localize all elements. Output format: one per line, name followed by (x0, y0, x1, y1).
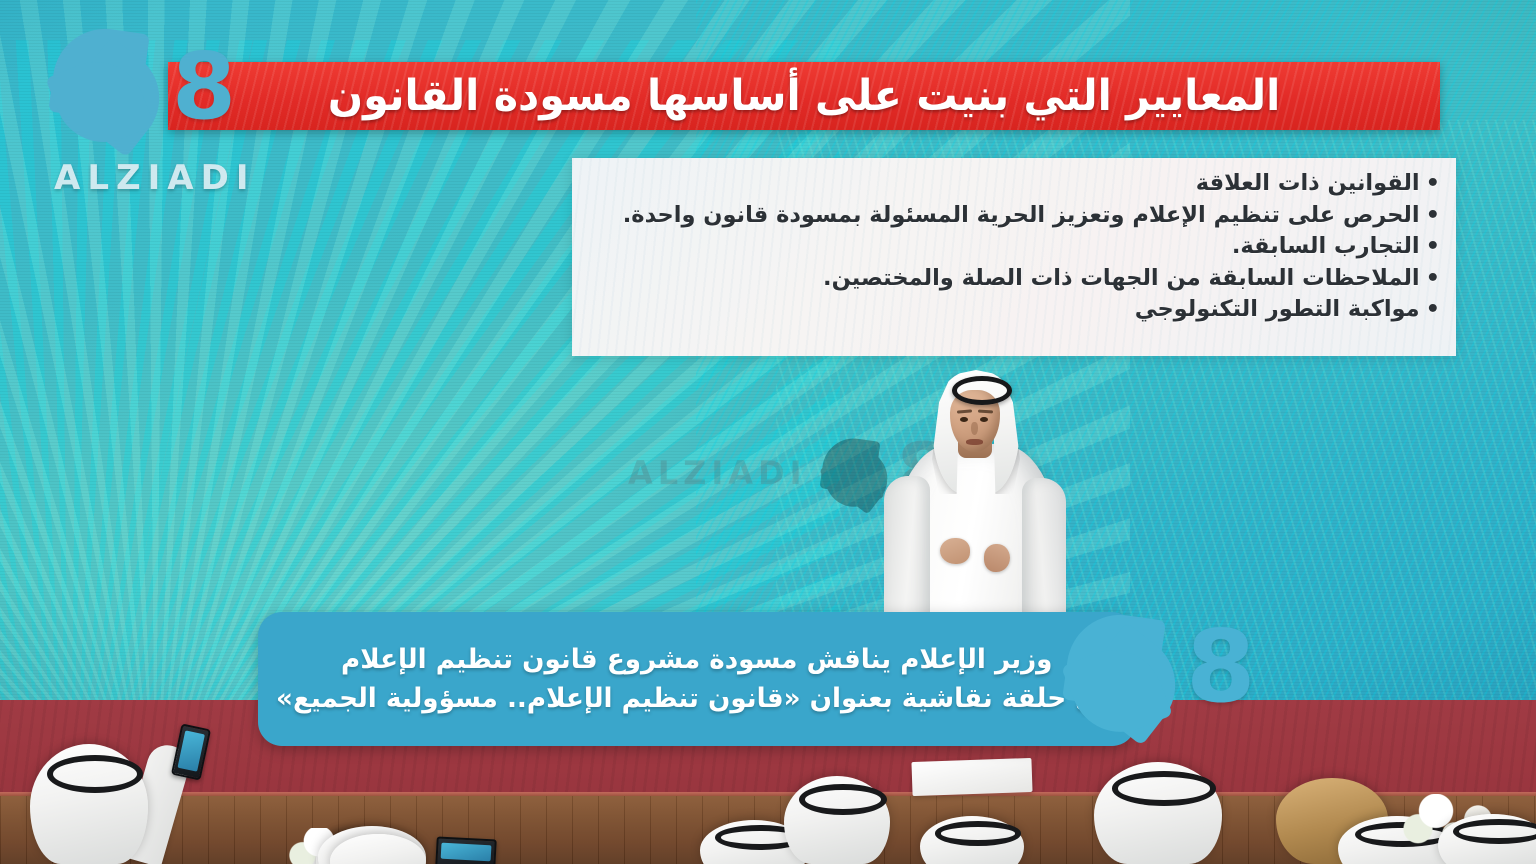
audience-agal (1453, 819, 1536, 844)
speaker-left-sleeve (884, 476, 930, 626)
audience-head (30, 744, 148, 864)
audience-agal (799, 784, 887, 815)
audience-head (1438, 814, 1536, 864)
audience-head (1094, 762, 1222, 864)
audience-agal (47, 755, 144, 793)
logo-eight: 8 (172, 48, 236, 126)
slide-bullet-list: •القوانين ذات العلاقة •الحرص على تنظيم ا… (586, 168, 1440, 326)
presentation-slide: •القوانين ذات العلاقة •الحرص على تنظيم ا… (572, 158, 1456, 356)
slide-bullet-text: التجارب السابقة. (1232, 233, 1420, 259)
audience-head (784, 776, 890, 864)
audience-head (330, 834, 426, 864)
list-item: •القوانين ذات العلاقة (586, 168, 1440, 200)
headline-text: المعايير التي بنيت على أساسها مسودة القا… (328, 71, 1280, 121)
headline-banner: المعايير التي بنيت على أساسها مسودة القا… (168, 62, 1440, 130)
speaker-right-hand (984, 544, 1010, 572)
speaker-left-hand (940, 538, 970, 564)
audience-head (920, 816, 1024, 864)
bullet-glyph: • (1426, 233, 1440, 259)
audience-head (190, 826, 300, 864)
speaker-agal (952, 376, 1012, 405)
speaker-mouth (966, 439, 983, 445)
list-item: •التجارب السابقة. (586, 231, 1440, 263)
slide-bullet-text: الملاحظات السابقة من الجهات ذات الصلة وا… (823, 265, 1420, 291)
q-swirl-icon (50, 26, 174, 150)
stage-papers (911, 758, 1032, 796)
audience-agal (1112, 771, 1216, 805)
speaker-right-sleeve (1022, 478, 1066, 624)
list-item: •مواكبة التطور التكنولوجي (586, 294, 1440, 326)
news-still: المعايير التي بنيت على أساسها مسودة القا… (0, 0, 1536, 864)
logo-wordmark: ALZIADI (54, 158, 255, 198)
bullet-glyph: • (1426, 202, 1440, 228)
speaker-eye-left (960, 417, 968, 422)
list-item: •الملاحظات السابقة من الجهات ذات الصلة و… (586, 263, 1440, 295)
slide-bullet-text: القوانين ذات العلاقة (1196, 170, 1420, 196)
slide-bullet-text: الحرص على تنظيم الإعلام وتعزيز الحرية ال… (623, 202, 1420, 228)
channel-logo: 8 ALZIADI (46, 26, 276, 198)
audience-ghutra (330, 834, 426, 864)
speaker-eye-right (980, 417, 988, 422)
speaker-nose (971, 422, 978, 435)
caption-line-1: وزير الإعلام يناقش مسودة مشروع قانون تنظ… (341, 644, 1052, 675)
audience-device (435, 836, 496, 864)
bullet-glyph: • (1426, 296, 1440, 322)
caption-bar: وزير الإعلام يناقش مسودة مشروع قانون تنظ… (258, 612, 1136, 746)
bullet-glyph: • (1426, 170, 1440, 196)
slide-bullet-text: مواكبة التطور التكنولوجي (1135, 296, 1420, 322)
caption-line-2: في حلقة نقاشية بعنوان «قانون تنظيم الإعل… (276, 683, 1119, 714)
audience-agal (935, 821, 1022, 846)
list-item: •الحرص على تنظيم الإعلام وتعزيز الحرية ا… (586, 200, 1440, 232)
bullet-glyph: • (1426, 265, 1440, 291)
